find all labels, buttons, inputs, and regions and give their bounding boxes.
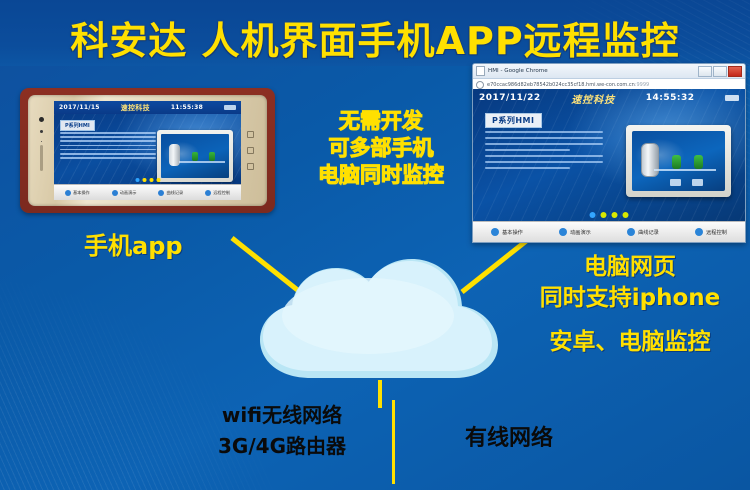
- bottom-divider: [392, 400, 395, 484]
- browser-caption-line-2: 同时支持iphone: [512, 283, 748, 314]
- phone-body: 2017/11/15 速控科技 11:55:38 P系列HMI: [28, 95, 267, 206]
- page-brand: 速控科技: [571, 91, 615, 106]
- browser-url: e70ccac986d82eb78542b024cc35cf18.hmi.we-…: [487, 82, 649, 88]
- phone-back-icon: [247, 163, 254, 170]
- wifi-icon: [205, 190, 211, 196]
- valve-icon: [694, 155, 703, 169]
- valve-icon: [209, 152, 215, 161]
- hand-icon: [491, 228, 499, 236]
- page-header: 2017/11/22 速控科技 14:55:32: [473, 89, 745, 107]
- pump-icon: [692, 179, 703, 186]
- page-nav-label: 动画演示: [570, 229, 591, 236]
- close-icon[interactable]: [728, 66, 742, 77]
- tank-icon: [641, 143, 659, 177]
- red-line-1: 无需开发: [296, 108, 466, 135]
- wifi-network-line-2: 3G/4G路由器: [172, 431, 392, 462]
- valve-icon: [192, 152, 198, 161]
- phone-nav-item-2[interactable]: 动画演示: [112, 190, 137, 196]
- browser-caption-line-3: 安卓、电脑监控: [512, 327, 748, 358]
- red-line-3: 电脑同时监控: [296, 162, 466, 189]
- phone-carousel-dots[interactable]: [135, 178, 160, 182]
- phone-menu-icon: [247, 131, 254, 138]
- page-heading: P系列HMI: [485, 113, 542, 128]
- page-nav-item-4[interactable]: 远程控制: [695, 228, 727, 236]
- phone-device: 2017/11/15 速控科技 11:55:38 P系列HMI: [20, 88, 275, 213]
- site-info-icon[interactable]: [476, 81, 484, 89]
- tank-icon: [169, 144, 180, 166]
- phone-app-heading: P系列HMI: [60, 120, 95, 131]
- cloud-graphic: [248, 256, 513, 386]
- phone-nav-label: 基本操作: [73, 190, 90, 196]
- wired-network-caption: 有线网络: [404, 420, 614, 452]
- phone-app-date: 2017/11/15: [59, 104, 100, 111]
- poster-root: 科安达 人机界面手机APP远程监控 2017/11/15 速控科技 11:55:…: [0, 0, 750, 490]
- pump-icon: [670, 179, 681, 186]
- phone-hmi-panel-image: [157, 130, 233, 182]
- phone-app-paragraph: [60, 132, 156, 161]
- browser-url-port: :9999: [635, 82, 649, 88]
- browser-caption-block: 电脑网页 同时支持iphone 安卓、电脑监控: [512, 252, 748, 357]
- wifi-icon: [695, 228, 703, 236]
- browser-url-host: e70ccac986d82eb78542b024cc35cf18.hmi.we-…: [487, 82, 635, 88]
- minimize-icon[interactable]: [698, 66, 712, 77]
- play-icon: [559, 228, 567, 236]
- phone-app-brand: 速控科技: [121, 103, 150, 113]
- wifi-network-caption: wifi无线网络 3G/4G路由器: [172, 400, 392, 462]
- page-badge: [725, 95, 739, 101]
- page-navbar: 基本操作 动画演示 曲线记录 远程控制: [473, 221, 745, 242]
- phone-caption: 手机app: [84, 226, 183, 261]
- maximize-icon[interactable]: [713, 66, 727, 77]
- phone-nav-item-1[interactable]: 基本操作: [65, 190, 90, 196]
- play-icon: [112, 190, 118, 196]
- phone-camera-icon: [39, 117, 44, 122]
- page-date: 2017/11/22: [479, 93, 541, 103]
- pipe-icon: [179, 161, 225, 163]
- wired-network-line: 有线网络: [404, 420, 614, 452]
- page-title: 科安达 人机界面手机APP远程监控: [0, 10, 750, 65]
- hmi-panel-image: [626, 125, 731, 197]
- chart-icon: [158, 190, 164, 196]
- wifi-network-line-1: wifi无线网络: [172, 400, 392, 431]
- phone-side-buttons[interactable]: [242, 95, 258, 206]
- phone-app-header: 2017/11/15 速控科技 11:55:38: [54, 101, 241, 114]
- phone-home-icon: [247, 147, 254, 154]
- browser-window-title: HMI - Google Chrome: [488, 68, 548, 74]
- cloud-icon: [248, 256, 513, 386]
- phone-nav-label: 远程控制: [213, 190, 230, 196]
- red-highlight-text: 无需开发 可多部手机 电脑同时监控: [296, 108, 466, 189]
- page-nav-item-3[interactable]: 曲线记录: [627, 228, 659, 236]
- page-nav-label: 曲线记录: [638, 229, 659, 236]
- page-time: 14:55:32: [646, 93, 695, 103]
- pipe-icon: [654, 169, 716, 171]
- browser-titlebar[interactable]: HMI - Google Chrome: [473, 64, 745, 79]
- phone-nav-label: 动画演示: [120, 190, 137, 196]
- chart-icon: [627, 228, 635, 236]
- page-carousel-dots[interactable]: [590, 212, 629, 218]
- browser-page-content: 2017/11/22 速控科技 14:55:32 P系列HMI: [473, 89, 745, 242]
- page-nav-label: 基本操作: [502, 229, 523, 236]
- phone-speaker-icon: [40, 145, 43, 171]
- phone-screen: 2017/11/15 速控科技 11:55:38 P系列HMI: [54, 101, 241, 200]
- page-nav-item-2[interactable]: 动画演示: [559, 228, 591, 236]
- phone-nav-item-4[interactable]: 远程控制: [205, 190, 230, 196]
- phone-app-time: 11:55:38: [171, 104, 203, 111]
- browser-caption-line-1: 电脑网页: [512, 252, 748, 283]
- page-nav-label: 远程控制: [706, 229, 727, 236]
- phone-nav-label: 曲线记录: [166, 190, 183, 196]
- red-line-2: 可多部手机: [296, 135, 466, 162]
- phone-frame: 2017/11/15 速控科技 11:55:38 P系列HMI: [20, 88, 275, 213]
- phone-nav-item-3[interactable]: 曲线记录: [158, 190, 183, 196]
- page-paragraph: [485, 131, 603, 173]
- page-favicon-icon: [476, 66, 485, 76]
- valve-icon: [672, 155, 681, 169]
- phone-app-navbar: 基本操作 动画演示 曲线记录 远程控制: [54, 184, 241, 200]
- phone-app-body: P系列HMI: [54, 114, 241, 185]
- hand-icon: [65, 190, 71, 196]
- browser-window[interactable]: HMI - Google Chrome e70ccac986d82eb78542…: [472, 63, 746, 243]
- window-controls[interactable]: [698, 66, 742, 77]
- phone-app-badge: [224, 105, 236, 110]
- page-nav-item-1[interactable]: 基本操作: [491, 228, 523, 236]
